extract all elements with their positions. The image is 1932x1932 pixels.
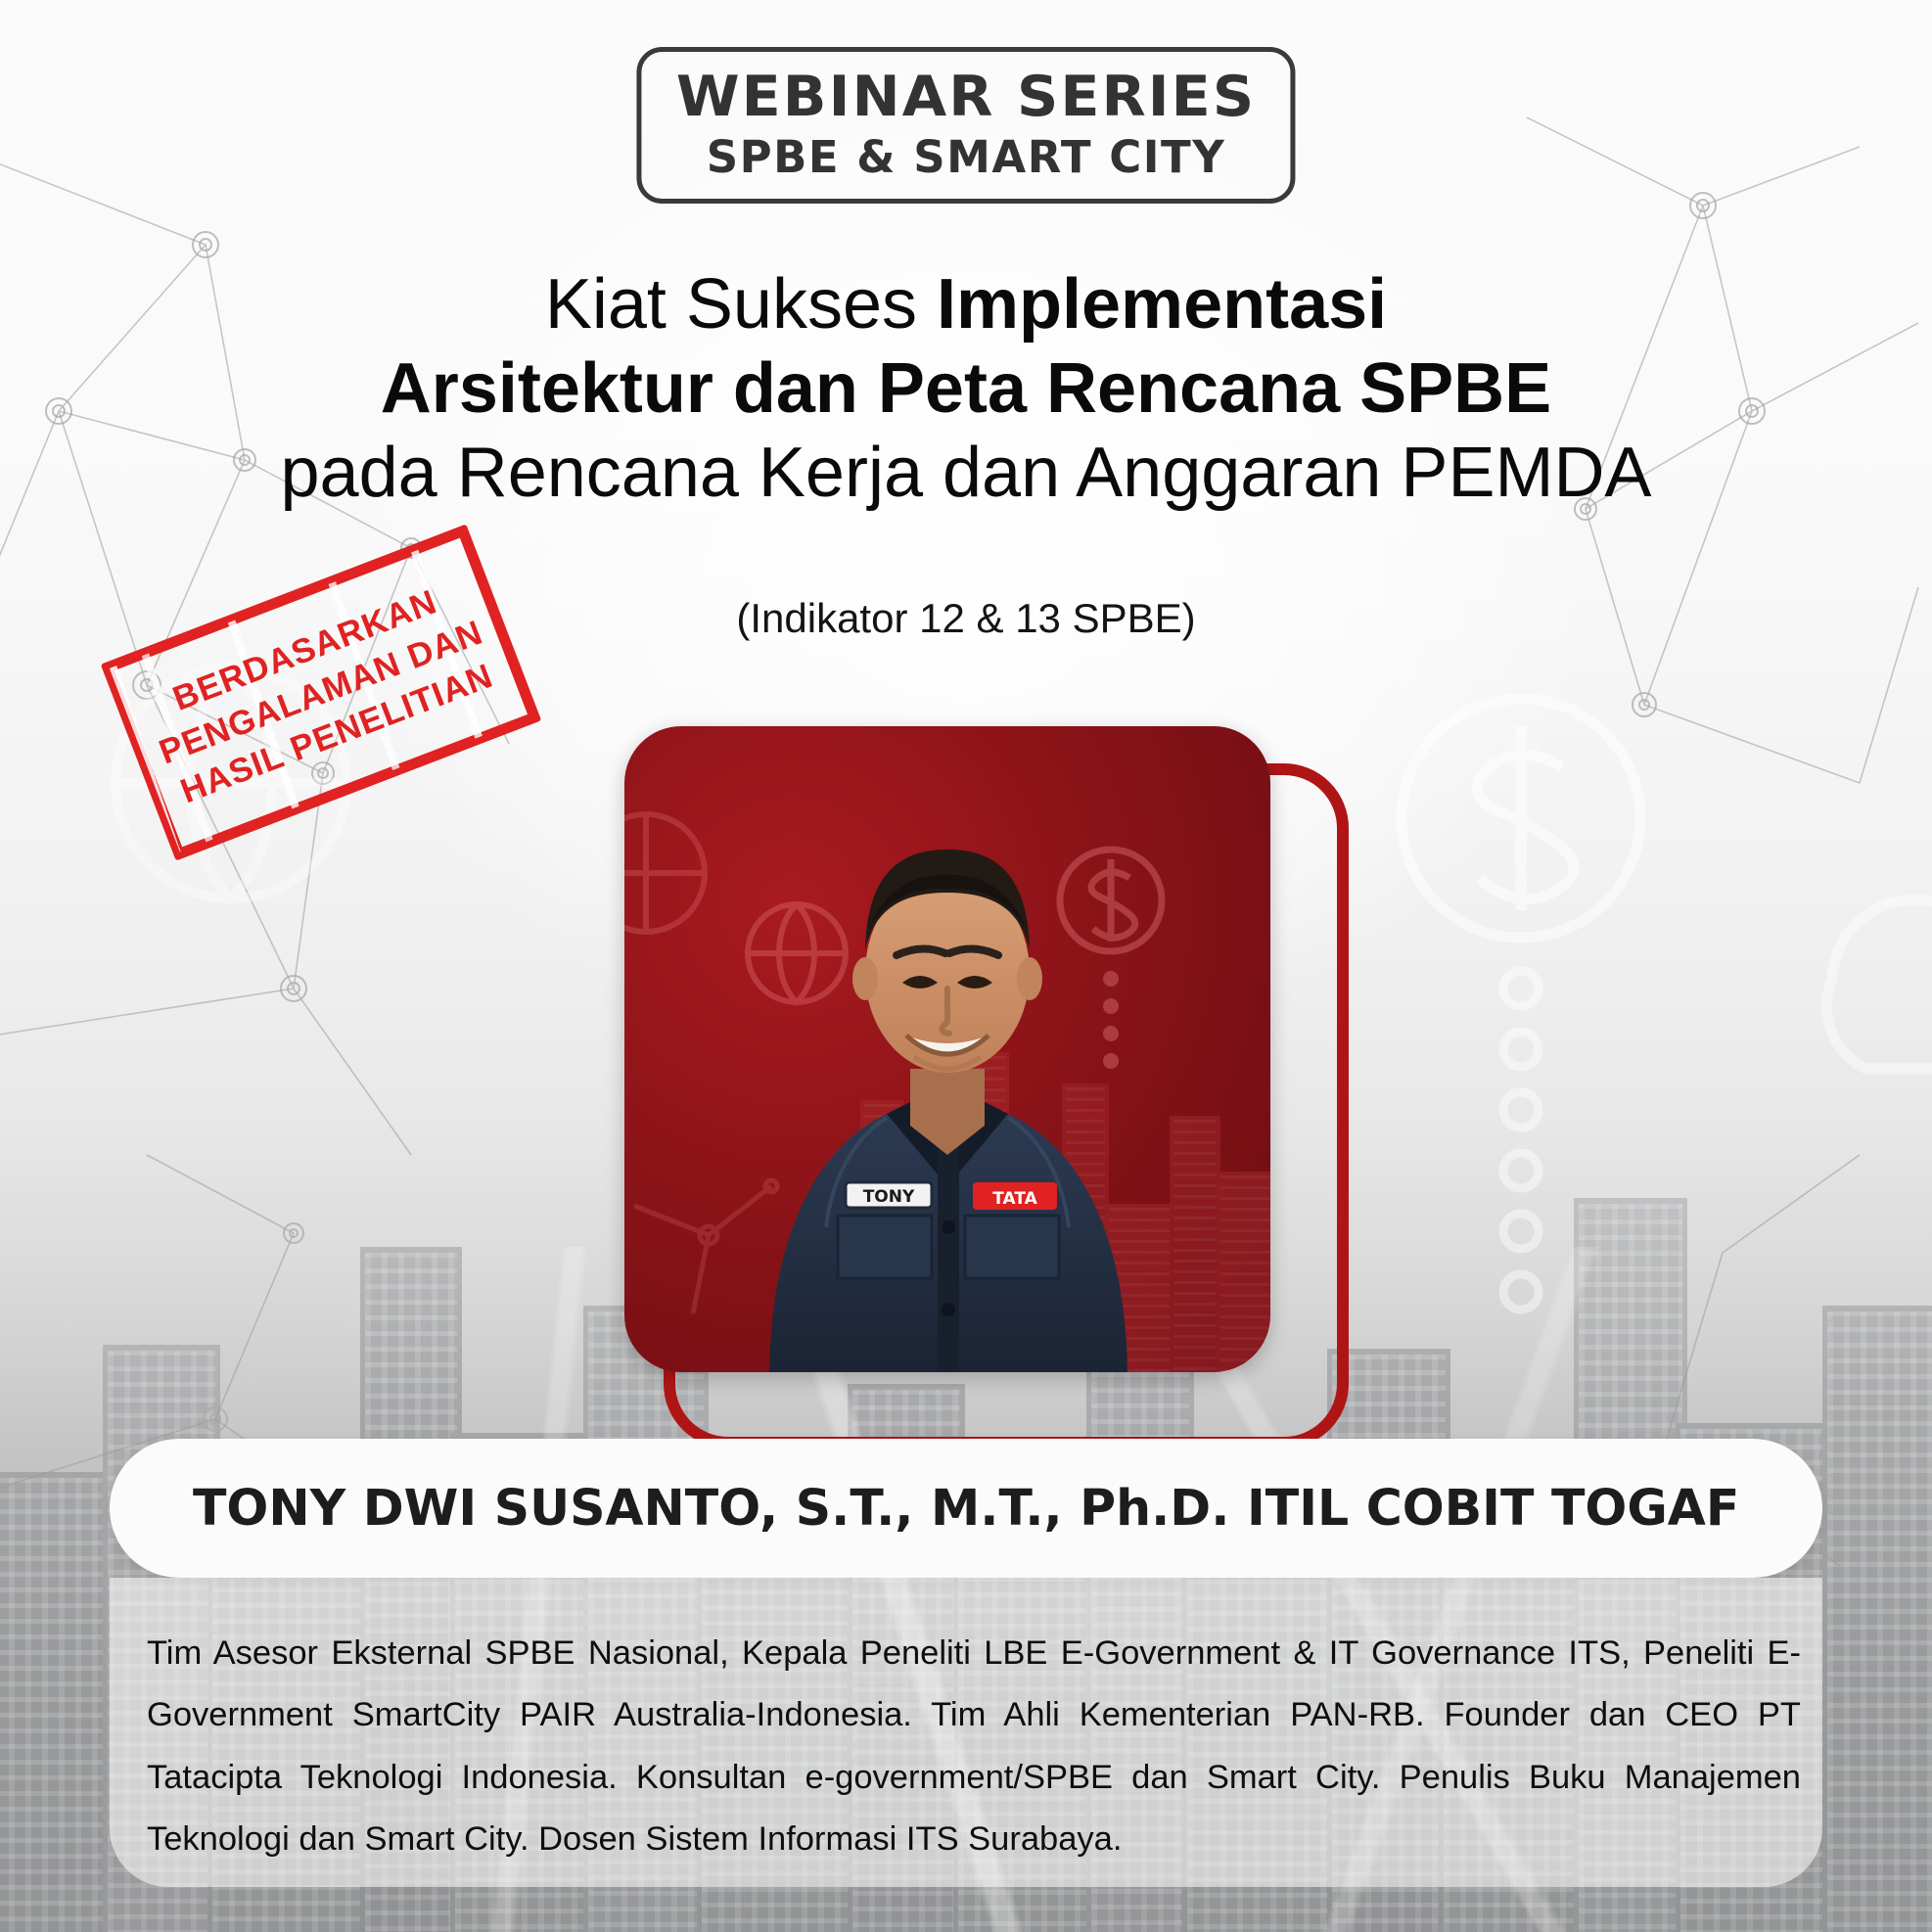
webinar-poster: WEBINAR SERIES SPBE & SMART CITY Kiat Su… <box>0 0 1932 1932</box>
svg-text:TONY: TONY <box>863 1187 915 1207</box>
title-line-2: Arsitektur dan Peta Rencana SPBE <box>0 350 1932 429</box>
page-title: Kiat Sukses Implementasi Arsitektur dan … <box>0 266 1932 513</box>
webinar-series-badge: WEBINAR SERIES SPBE & SMART CITY <box>636 47 1295 204</box>
title-line-1: Kiat Sukses Implementasi <box>0 266 1932 345</box>
speaker-name-banner: TONY DWI SUSANTO, S.T., M.T., Ph.D. ITIL… <box>110 1439 1822 1578</box>
title-line-3: pada Rencana Kerja dan Anggaran PEMDA <box>0 435 1932 513</box>
speaker-photo-container: TONY TATA <box>624 726 1310 1411</box>
speaker-bio-text: Tim Asesor Eksternal SPBE Nasional, Kepa… <box>147 1623 1801 1871</box>
title-line-1-light: Kiat Sukses <box>545 265 937 344</box>
badge-line-1: WEBINAR SERIES <box>676 69 1256 125</box>
speaker-photo: TONY TATA <box>624 726 1270 1372</box>
speaker-name: TONY DWI SUSANTO, S.T., M.T., Ph.D. ITIL… <box>193 1480 1739 1538</box>
svg-text:TATA: TATA <box>992 1189 1037 1209</box>
speaker-portrait-illustration: TONY TATA <box>624 726 1270 1372</box>
badge-line-2: SPBE & SMART CITY <box>684 135 1247 179</box>
title-line-1-bold: Implementasi <box>937 265 1387 344</box>
